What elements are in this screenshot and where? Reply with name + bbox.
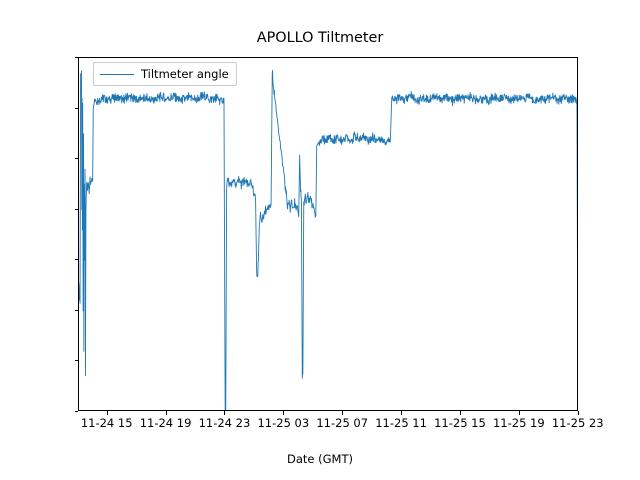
x-tick-mark <box>401 411 402 415</box>
x-tick-label: 11-25 07 <box>316 416 368 430</box>
y-tick-mark <box>75 411 79 412</box>
x-tick-mark <box>107 411 108 415</box>
x-tick-label: 11-24 23 <box>199 416 251 430</box>
x-tick-label: 11-24 15 <box>81 416 133 430</box>
legend: Tiltmeter angle <box>93 62 237 86</box>
x-tick-label: 11-25 03 <box>257 416 309 430</box>
tiltmeter-angle-series <box>79 58 578 411</box>
x-tick-label: 11-25 15 <box>434 416 486 430</box>
x-tick-label: 11-25 11 <box>375 416 427 430</box>
x-tick-mark <box>578 411 579 415</box>
x-tick-label: 11-24 19 <box>140 416 192 430</box>
x-axis-label: Date (GMT) <box>0 452 640 466</box>
x-tick-mark <box>166 411 167 415</box>
x-tick-mark <box>460 411 461 415</box>
plot-area <box>78 57 578 411</box>
legend-color-swatch <box>100 74 134 75</box>
x-tick-label: 11-25 23 <box>552 416 604 430</box>
legend-item-label: Tiltmeter angle <box>141 67 229 81</box>
x-tick-mark <box>519 411 520 415</box>
page-title: APOLLO Tiltmeter <box>0 30 640 46</box>
series-line-tiltmeter-angle <box>79 70 578 411</box>
x-tick-mark <box>342 411 343 415</box>
figure: APOLLO Tiltmeter Angle (deg) Date (GMT) … <box>0 0 640 480</box>
x-tick-label: 11-25 19 <box>493 416 545 430</box>
x-tick-mark <box>283 411 284 415</box>
x-tick-mark <box>224 411 225 415</box>
